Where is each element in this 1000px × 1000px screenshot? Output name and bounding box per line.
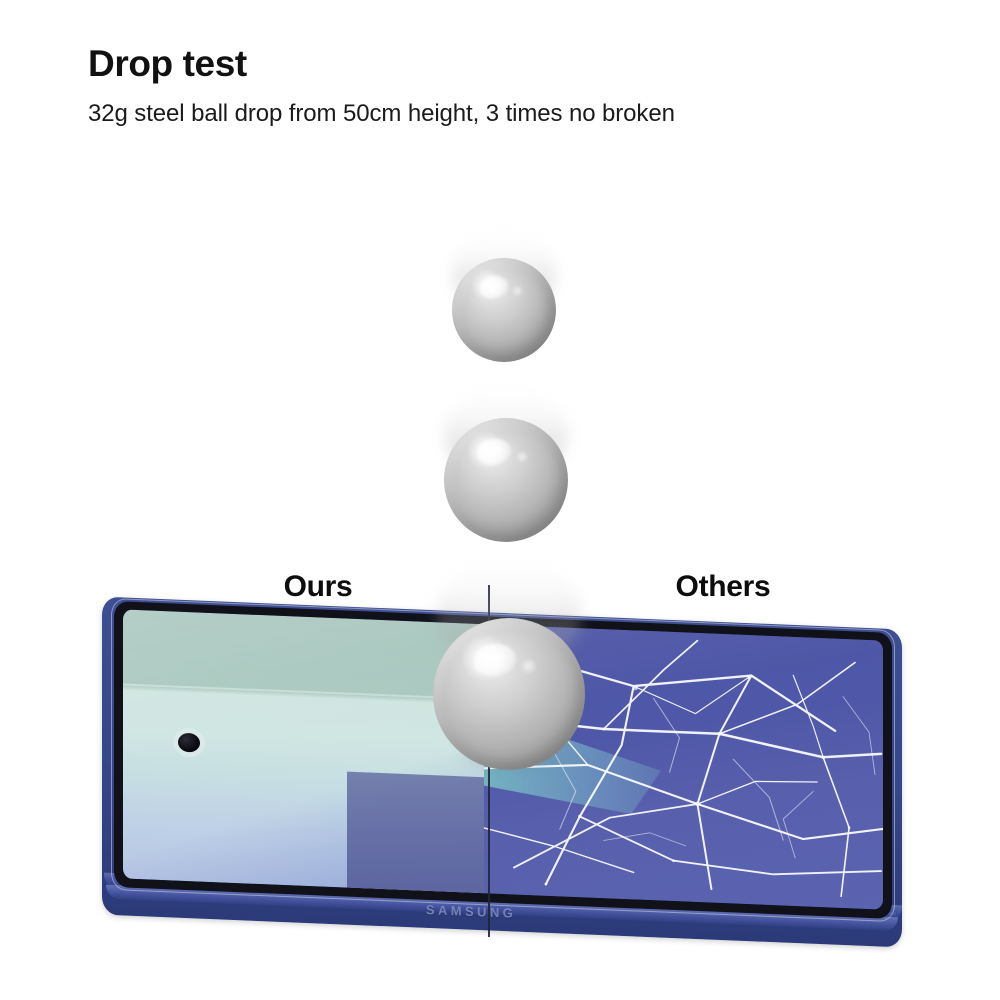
ball-surface-middle [444,418,568,542]
ball-highlight2-top [512,284,522,298]
page-subtitle: 32g steel ball drop from 50cm height, 3 … [88,99,948,129]
screen-wallpaper-block [347,772,484,893]
ball-surface-impact [433,618,585,770]
steel-ball-top [452,258,556,362]
screen-half-ours-intact [123,609,484,893]
page-title: Drop test [88,44,948,85]
ball-surface-top [452,258,556,362]
steel-ball-middle [444,418,568,542]
ball-highlight2-impact [521,656,536,676]
punch-hole-camera-icon [178,733,200,753]
steel-ball-impact [433,618,585,770]
screen-gradient-seam [123,683,484,700]
header-block: Drop test 32g steel ball drop from 50cm … [88,44,948,129]
